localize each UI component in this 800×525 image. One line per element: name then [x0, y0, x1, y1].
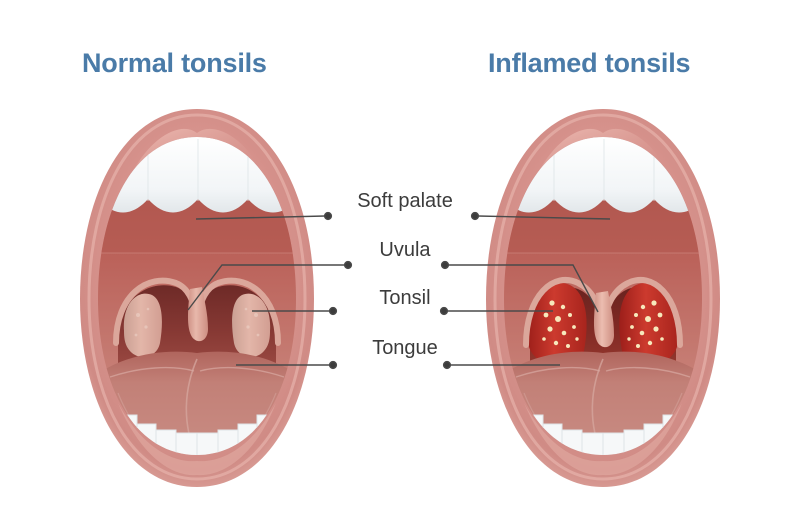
leader-dot-uvula-right — [442, 262, 449, 269]
mouth-diagram-inflamed — [478, 103, 728, 498]
leader-dot-uvula-left — [345, 262, 352, 269]
label-tongue: Tongue — [330, 337, 480, 360]
panel-title-normal: Normal tonsils — [82, 48, 267, 79]
leader-dot-tongue-right — [444, 362, 451, 369]
leader-dot-soft-palate-left — [325, 213, 332, 220]
mouth-diagram-normal — [72, 103, 322, 498]
panel-title-inflamed: Inflamed tonsils — [488, 48, 690, 79]
leader-dot-tongue-left — [330, 362, 337, 369]
label-soft-palate: Soft palate — [330, 190, 480, 213]
label-tonsil: Tonsil — [330, 287, 480, 310]
label-uvula: Uvula — [330, 239, 480, 262]
illustration-canvas: Normal tonsils Inflamed tonsils — [0, 0, 800, 525]
